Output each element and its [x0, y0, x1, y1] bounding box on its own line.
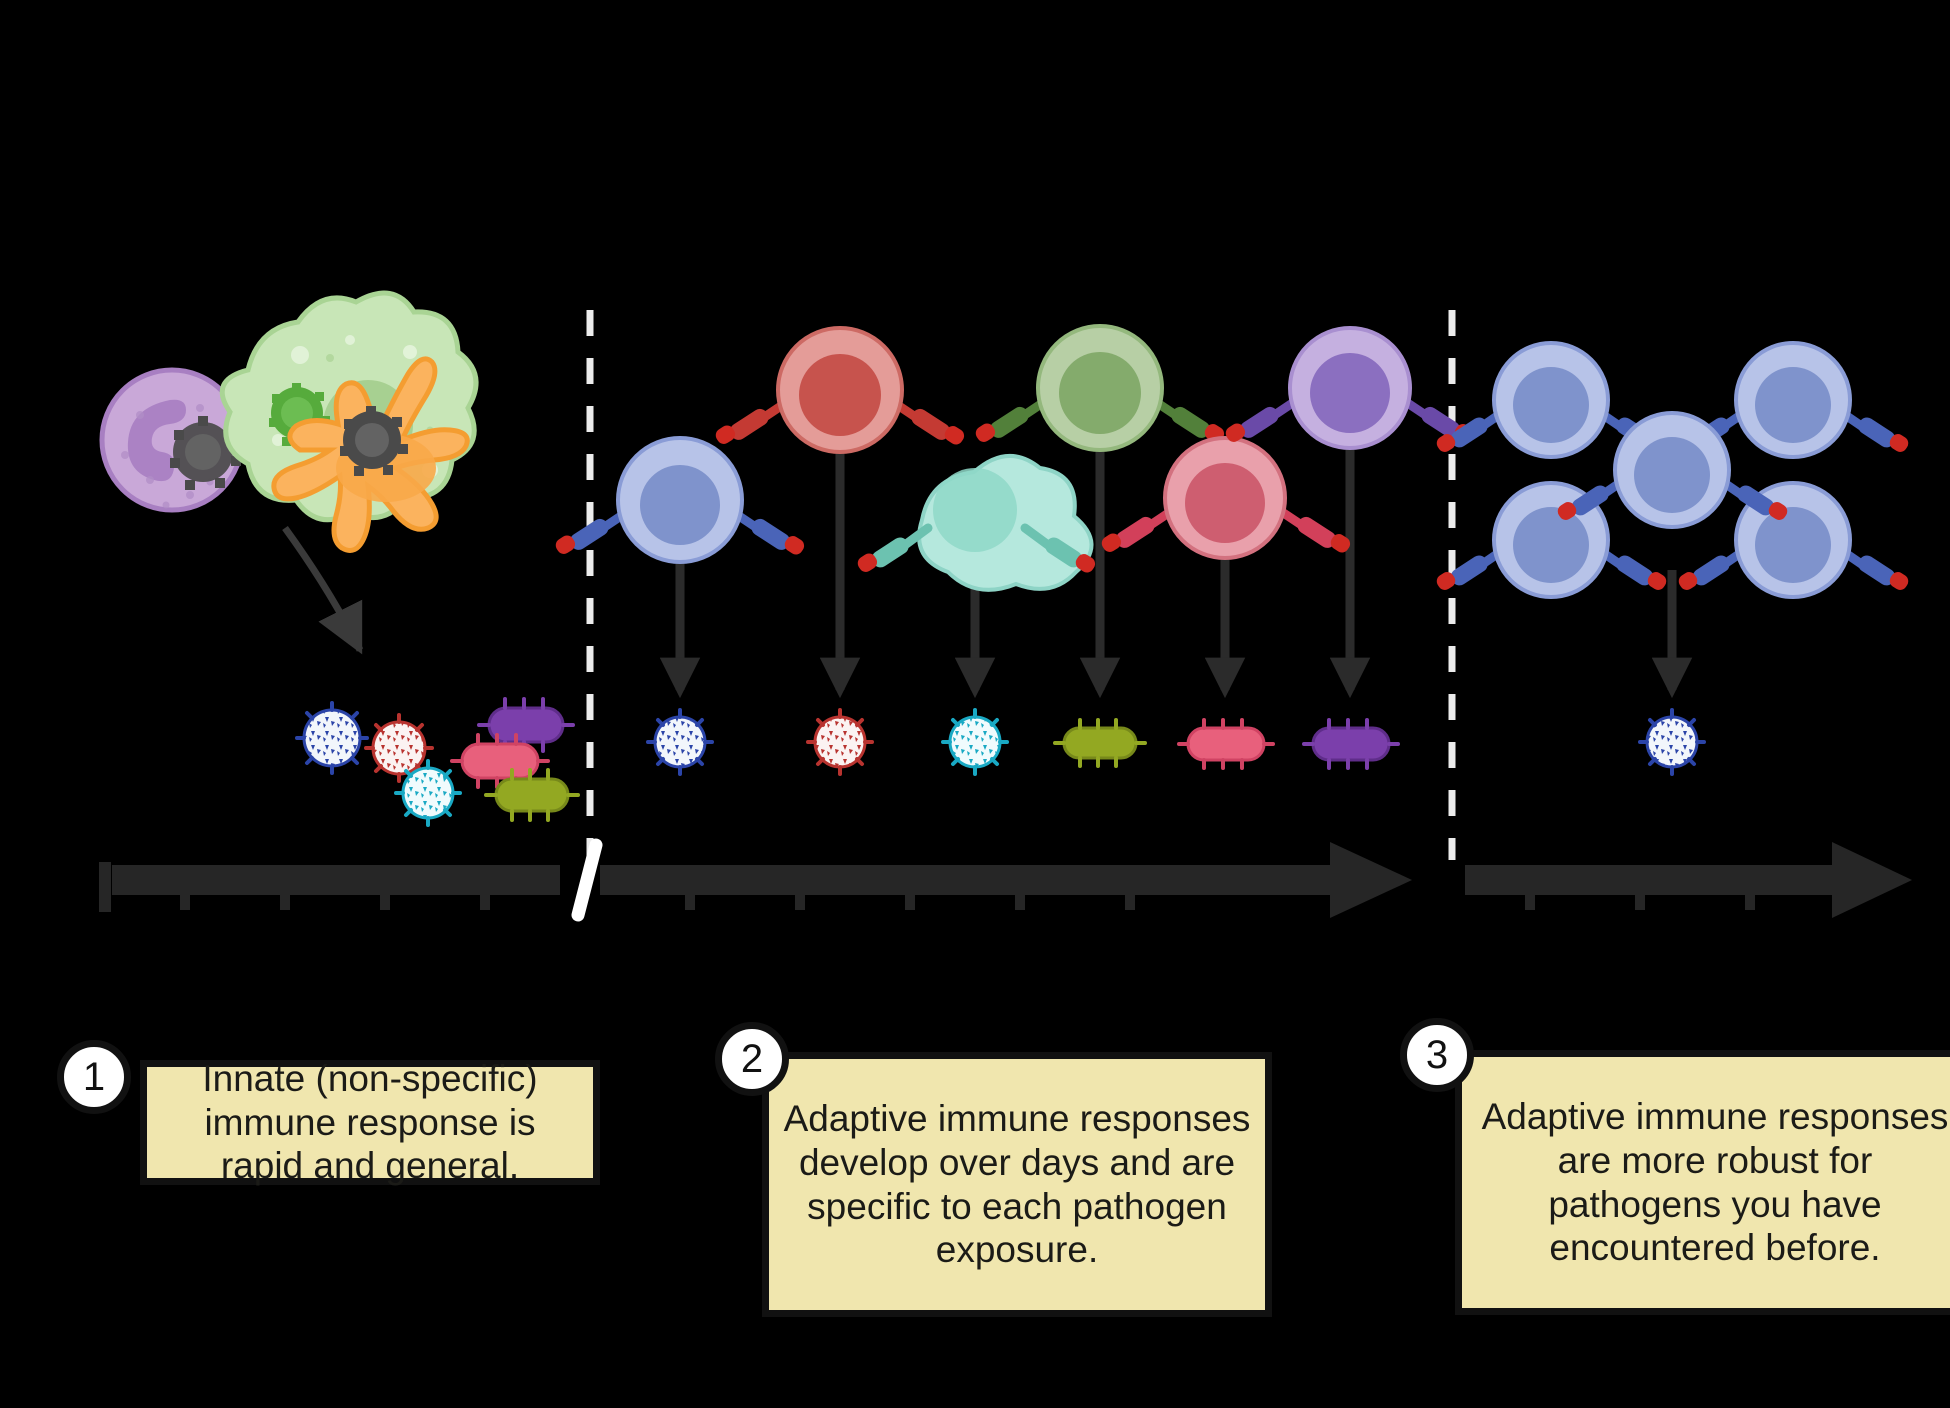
callout-badge-2: 2 [715, 1022, 789, 1096]
timeline-arrow-adaptive-memory [1465, 842, 1912, 918]
callout-badge-1: 1 [57, 1040, 131, 1114]
callout-text-2: Adaptive immune responses develop over d… [783, 1097, 1251, 1272]
callout-box-innate: Innate (non-specific) immune response is… [140, 1060, 600, 1185]
callout-text-3: Adaptive immune responses are more robus… [1476, 1095, 1950, 1270]
target-virus-blue-memory [1640, 710, 1704, 774]
target-bacterium-pink-primary [1179, 720, 1273, 768]
target-bacterium-purple-primary [1304, 720, 1398, 768]
lymphocyte-green-primary [973, 326, 1227, 450]
lymphocyte-pink-primary [1099, 438, 1353, 558]
lymphocyte-mint-primary [855, 456, 1098, 590]
target-virus-red-primary [808, 710, 872, 774]
timeline-arrow-innate [105, 862, 560, 912]
timeline-arrow-adaptive-primary [600, 842, 1412, 918]
target-virus-blue-primary [648, 710, 712, 774]
pathogen-virus-cyan-innate [396, 761, 460, 825]
target-virus-cyan-primary [943, 710, 1007, 774]
callout-box-adaptive-memory: Adaptive immune responses are more robus… [1455, 1050, 1950, 1315]
callout-box-adaptive-primary: Adaptive immune responses develop over d… [762, 1052, 1272, 1317]
lymphocyte-red-primary [713, 328, 967, 452]
callout-badge-3: 3 [1400, 1018, 1474, 1092]
immune-response-diagram: 1 Innate (non-specific) immune response … [0, 0, 1950, 1408]
timeline-break-tick [578, 845, 596, 915]
lymphocyte-purple-primary [1223, 328, 1477, 448]
pathogen-virus-blue-innate [297, 703, 367, 773]
target-bacterium-olive-primary [1055, 720, 1145, 766]
callout-text-1: Innate (non-specific) immune response is… [161, 1057, 579, 1188]
